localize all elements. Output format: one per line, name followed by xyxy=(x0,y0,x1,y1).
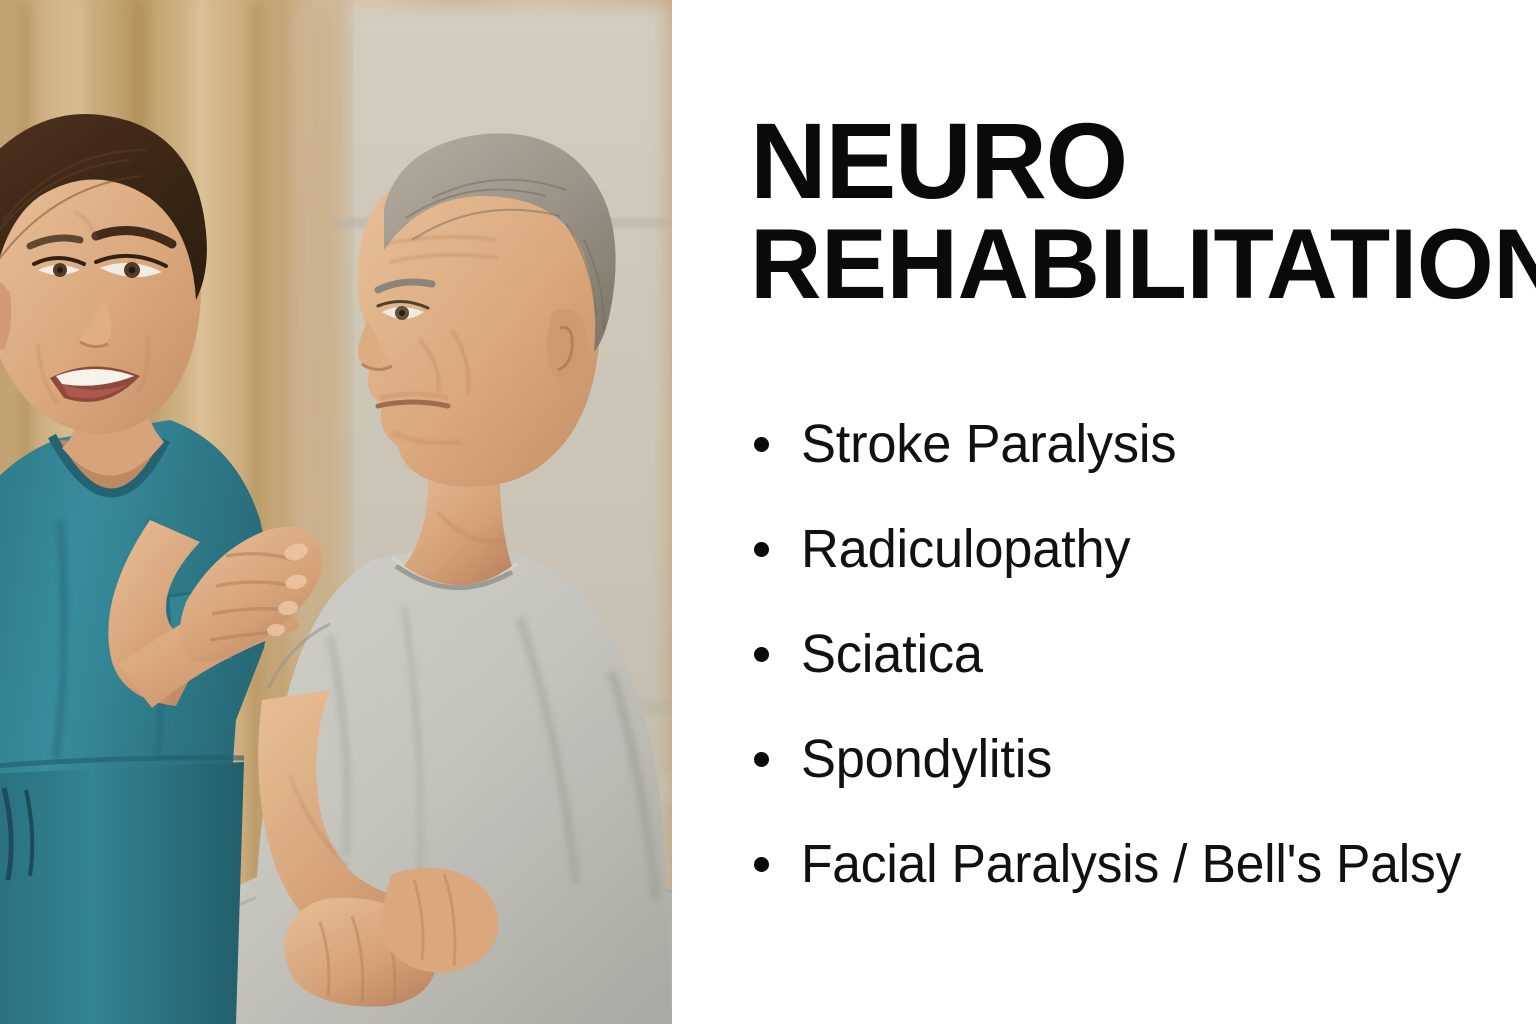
list-item: Sciatica xyxy=(750,602,1536,707)
list-item-label: Stroke Paralysis xyxy=(801,416,1176,473)
list-item-label: Spondylitis xyxy=(801,731,1052,788)
neuro-rehabilitation-slide: NEURO REHABILITATION Stroke Paralysis Ra… xyxy=(0,0,1536,1024)
clinic-photo-illustration xyxy=(0,0,672,1024)
list-item: Spondylitis xyxy=(750,707,1536,812)
bullet-dot-icon xyxy=(754,647,769,662)
list-item: Radiculopathy xyxy=(750,497,1536,602)
list-item-label: Radiculopathy xyxy=(801,521,1130,578)
bullet-dot-icon xyxy=(754,437,769,452)
list-item-label: Sciatica xyxy=(801,626,983,683)
list-item: Stroke Paralysis xyxy=(750,392,1536,497)
bullet-dot-icon xyxy=(754,857,769,872)
bullet-dot-icon xyxy=(754,542,769,557)
list-item-label: Facial Paralysis / Bell's Palsy xyxy=(801,836,1461,893)
list-item: Facial Paralysis / Bell's Palsy xyxy=(750,812,1536,917)
text-panel: NEURO REHABILITATION Stroke Paralysis Ra… xyxy=(672,0,1536,1024)
page-title-line-1: NEURO xyxy=(750,108,1528,215)
page-title-line-2: REHABILITATION xyxy=(750,215,1536,313)
clinic-photo xyxy=(0,0,672,1024)
conditions-list: Stroke Paralysis Radiculopathy Sciatica … xyxy=(750,392,1536,917)
bullet-dot-icon xyxy=(754,752,769,767)
page-title: NEURO REHABILITATION xyxy=(750,108,1536,313)
